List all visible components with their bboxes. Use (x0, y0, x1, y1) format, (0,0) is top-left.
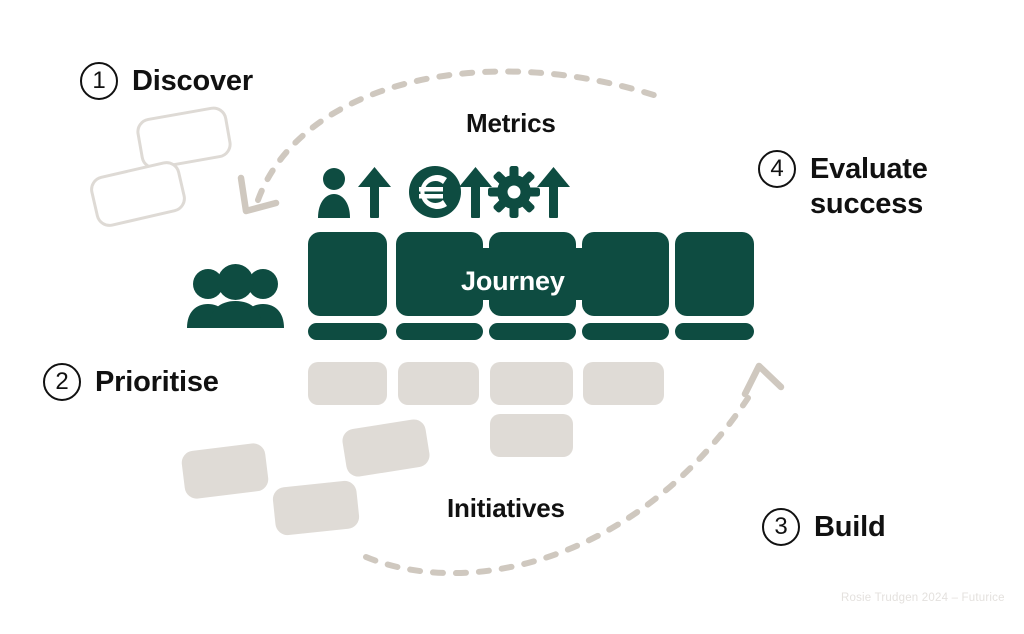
journey-block-5 (675, 232, 754, 316)
initiative-card (490, 362, 573, 405)
metric-icons-group (316, 166, 576, 222)
step-number-badge: 1 (80, 62, 118, 100)
step-label: Build (814, 508, 886, 545)
journey-bar (582, 323, 669, 340)
person-icon (318, 168, 350, 218)
up-arrow-icon (459, 167, 492, 218)
journey-bar (396, 323, 483, 340)
step-number-badge: 2 (43, 363, 81, 401)
outline-card (134, 104, 234, 171)
people-group-icon (187, 268, 284, 328)
up-arrow-icon (358, 167, 391, 218)
euro-coin-icon (409, 166, 461, 218)
step-number-badge: 3 (762, 508, 800, 546)
credit-text: Rosie Trudgen 2024 – Futurice (841, 592, 1005, 604)
initiative-card (490, 414, 573, 457)
step-discover[interactable]: 1 Discover (80, 62, 253, 100)
step-prioritise[interactable]: 2 Prioritise (43, 363, 219, 401)
journey-block-4 (582, 232, 669, 316)
journey-bar (675, 323, 754, 340)
outline-card (87, 158, 188, 229)
journey-title: Journey (461, 266, 565, 297)
initiatives-title: Initiatives (447, 493, 565, 524)
loose-initiative-card (180, 442, 269, 500)
loose-initiative-card (341, 418, 431, 479)
journey-bar (489, 323, 576, 340)
step-label: Evaluate success (810, 150, 928, 223)
up-arrow-icon (537, 167, 570, 218)
metrics-title: Metrics (466, 108, 556, 139)
step-label: Discover (132, 62, 253, 99)
gear-icon (488, 166, 540, 218)
initiative-card (398, 362, 479, 405)
step-number-badge: 4 (758, 150, 796, 188)
journey-block-1 (308, 232, 387, 316)
step-label: Prioritise (95, 363, 219, 400)
loose-initiative-card (272, 480, 361, 537)
diagram-canvas: 1 Discover Metrics (0, 0, 1024, 634)
journey-bar (308, 323, 387, 340)
initiative-card (308, 362, 387, 405)
journey-block-connector (573, 248, 589, 300)
step-evaluate-success[interactable]: 4 Evaluate success (758, 150, 928, 223)
step-build[interactable]: 3 Build (762, 508, 886, 546)
initiative-card (583, 362, 664, 405)
